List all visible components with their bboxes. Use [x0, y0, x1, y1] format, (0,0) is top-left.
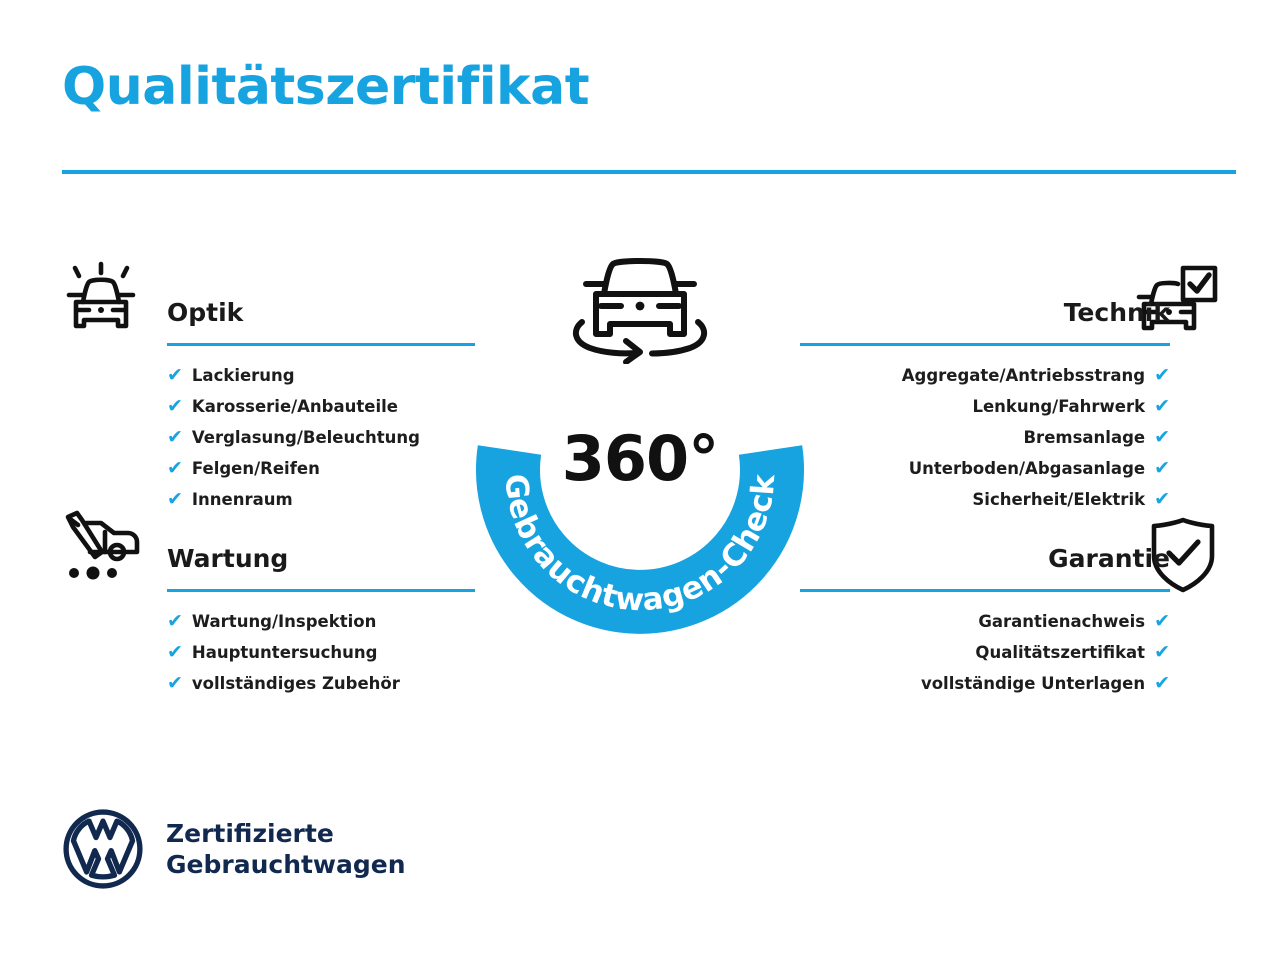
list-item: Unterboden/Abgasanlage ✔ — [800, 453, 1170, 484]
section-header-wartung: Wartung — [105, 542, 475, 592]
list-item-label: Bremsanlage — [1023, 423, 1145, 453]
check-icon: ✔ — [167, 453, 183, 483]
footer-claim-line2: Gebrauchtwagen — [166, 849, 406, 880]
car-rotation-icon — [564, 246, 716, 364]
check-icon: ✔ — [167, 668, 183, 698]
list-item: Bremsanlage ✔ — [800, 422, 1170, 453]
check-icon: ✔ — [167, 484, 183, 514]
footer-claim: Zertifizierte Gebrauchtwagen — [166, 818, 406, 880]
check-icon: ✔ — [167, 422, 183, 452]
check-icon: ✔ — [1154, 453, 1170, 483]
list-item-label: Sicherheit/Elektrik — [972, 485, 1145, 515]
list-item: ✔ Lackierung — [105, 360, 475, 391]
check-icon: ✔ — [167, 360, 183, 390]
section-garantie: Garantie Garantienachweis ✔ Qualitätszer… — [800, 542, 1170, 699]
section-divider-optik — [167, 343, 475, 346]
checklist-wartung: ✔ Wartung/Inspektion ✔ Hauptuntersuchung… — [105, 592, 475, 699]
check-icon: ✔ — [1154, 637, 1170, 667]
list-item: ✔ Felgen/Reifen — [105, 453, 475, 484]
check-icon: ✔ — [1154, 391, 1170, 421]
section-title-wartung: Wartung — [105, 542, 475, 576]
list-item: ✔ Hauptuntersuchung — [105, 637, 475, 668]
list-item: ✔ vollständiges Zubehör — [105, 668, 475, 699]
list-item: Garantienachweis ✔ — [800, 606, 1170, 637]
section-header-optik: Optik — [105, 296, 475, 346]
checklist-garantie: Garantienachweis ✔ Qualitätszertifikat ✔… — [800, 592, 1170, 699]
checklist-technik: Aggregate/Antriebsstrang ✔ Lenkung/Fahrw… — [800, 346, 1170, 515]
section-divider-wartung — [167, 589, 475, 592]
list-item-label: Innenraum — [192, 485, 293, 515]
list-item-label: Aggregate/Antriebsstrang — [902, 361, 1145, 391]
section-technik: Technik Aggregate/Antriebsstrang ✔ Lenku… — [800, 296, 1170, 515]
section-divider-garantie — [800, 589, 1170, 592]
check-icon: ✔ — [1154, 606, 1170, 636]
list-item: ✔ Karosserie/Anbauteile — [105, 391, 475, 422]
360-check-badge: Gebrauchtwagen-Check 360° — [462, 246, 818, 636]
list-item: Lenkung/Fahrwerk ✔ — [800, 391, 1170, 422]
check-icon: ✔ — [167, 606, 183, 636]
list-item: vollständige Unterlagen ✔ — [800, 668, 1170, 699]
section-wartung: Wartung ✔ Wartung/Inspektion ✔ Hauptunte… — [105, 542, 475, 699]
list-item-label: Felgen/Reifen — [192, 454, 320, 484]
section-title-technik: Technik — [800, 296, 1170, 330]
check-icon: ✔ — [1154, 422, 1170, 452]
list-item-label: vollständige Unterlagen — [921, 669, 1145, 699]
section-title-optik: Optik — [105, 296, 475, 330]
list-item-label: Wartung/Inspektion — [192, 607, 376, 637]
certificate-page: Qualitätszertifikat — [0, 0, 1280, 960]
list-item-label: Hauptuntersuchung — [192, 638, 378, 668]
list-item: Sicherheit/Elektrik ✔ — [800, 484, 1170, 515]
footer-brand: Zertifizierte Gebrauchtwagen — [62, 808, 406, 890]
list-item-label: Unterboden/Abgasanlage — [909, 454, 1145, 484]
list-item: ✔ Wartung/Inspektion — [105, 606, 475, 637]
list-item-label: vollständiges Zubehör — [192, 669, 400, 699]
list-item-label: Lackierung — [192, 361, 295, 391]
check-icon: ✔ — [1154, 668, 1170, 698]
list-item-label: Qualitätszertifikat — [975, 638, 1145, 668]
check-icon: ✔ — [1154, 360, 1170, 390]
list-item-label: Verglasung/Beleuchtung — [192, 423, 420, 453]
list-item-label: Lenkung/Fahrwerk — [972, 392, 1145, 422]
page-title: Qualitätszertifikat — [62, 58, 589, 118]
list-item-label: Garantienachweis — [978, 607, 1145, 637]
list-item: Aggregate/Antriebsstrang ✔ — [800, 360, 1170, 391]
section-header-garantie: Garantie — [800, 542, 1170, 592]
check-icon: ✔ — [1154, 484, 1170, 514]
list-item: ✔ Verglasung/Beleuchtung — [105, 422, 475, 453]
section-optik: Optik ✔ Lackierung ✔ Karosserie/Anbautei… — [105, 296, 475, 515]
badge-number: 360° — [462, 428, 818, 490]
section-header-technik: Technik — [800, 296, 1170, 346]
check-icon: ✔ — [167, 637, 183, 667]
footer-claim-line1: Zertifizierte — [166, 818, 406, 849]
volkswagen-logo — [62, 808, 144, 890]
title-divider — [62, 170, 1236, 174]
list-item: ✔ Innenraum — [105, 484, 475, 515]
list-item: Qualitätszertifikat ✔ — [800, 637, 1170, 668]
section-title-garantie: Garantie — [800, 542, 1170, 576]
list-item-label: Karosserie/Anbauteile — [192, 392, 398, 422]
checklist-optik: ✔ Lackierung ✔ Karosserie/Anbauteile ✔ V… — [105, 346, 475, 515]
check-icon: ✔ — [167, 391, 183, 421]
section-divider-technik — [800, 343, 1170, 346]
